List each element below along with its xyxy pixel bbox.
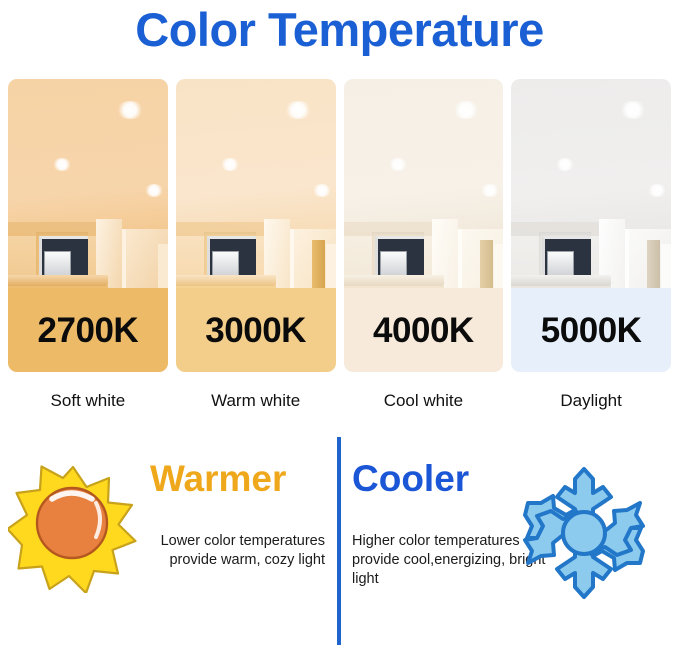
downlight-icon bbox=[452, 101, 480, 119]
kelvin-band-3000k: 3000K bbox=[176, 288, 336, 372]
kelvin-value: 3000K bbox=[205, 313, 306, 348]
downlight-icon bbox=[116, 101, 144, 119]
temperature-panels: 2700K 3000K bbox=[8, 79, 671, 372]
cooler-section: Cooler Higher color temperatures provide… bbox=[344, 437, 679, 645]
television-screen bbox=[380, 251, 407, 277]
downlight-icon bbox=[480, 184, 500, 197]
counter-top bbox=[511, 275, 611, 286]
ceiling bbox=[511, 79, 671, 235]
downlight-icon bbox=[312, 184, 332, 197]
caption-warm-white: Warm white bbox=[176, 389, 336, 413]
downlight-icon bbox=[388, 158, 408, 171]
television-screen bbox=[212, 251, 239, 277]
downlight-icon bbox=[144, 184, 164, 197]
caption-soft-white: Soft white bbox=[8, 389, 168, 413]
television-screen bbox=[547, 251, 574, 277]
kelvin-value: 5000K bbox=[541, 313, 642, 348]
counter-top bbox=[344, 275, 444, 286]
temperature-panel-3000k[interactable]: 3000K bbox=[176, 79, 336, 372]
kelvin-band-5000k: 5000K bbox=[511, 288, 671, 372]
warmer-heading: Warmer bbox=[150, 458, 325, 500]
kelvin-band-4000k: 4000K bbox=[344, 288, 504, 372]
television-screen bbox=[44, 251, 71, 277]
vertical-divider bbox=[337, 437, 341, 645]
kelvin-value: 4000K bbox=[373, 313, 474, 348]
caption-cool-white: Cool white bbox=[344, 389, 504, 413]
page-title: Color Temperature bbox=[0, 2, 679, 58]
caption-daylight: Daylight bbox=[511, 389, 671, 413]
ceiling bbox=[8, 79, 168, 235]
temperature-panel-4000k[interactable]: 4000K bbox=[344, 79, 504, 372]
counter-top bbox=[8, 275, 108, 286]
downlight-icon bbox=[220, 158, 240, 171]
downlight-icon bbox=[284, 101, 312, 119]
temperature-panel-2700k[interactable]: 2700K bbox=[8, 79, 168, 372]
ceiling bbox=[344, 79, 504, 235]
warmer-section: Warmer Lower color temperatures provide … bbox=[0, 437, 330, 645]
ceiling bbox=[176, 79, 336, 235]
downlight-icon bbox=[52, 158, 72, 171]
kelvin-value: 2700K bbox=[38, 313, 139, 348]
snowflake-icon bbox=[514, 463, 654, 603]
kelvin-band-2700k: 2700K bbox=[8, 288, 168, 372]
temperature-panel-5000k[interactable]: 5000K bbox=[511, 79, 671, 372]
sun-icon bbox=[8, 463, 138, 593]
counter-top bbox=[176, 275, 276, 286]
warmer-description: Lower color temperatures provide warm, c… bbox=[120, 532, 325, 570]
panel-captions: Soft white Warm white Cool white Dayligh… bbox=[8, 389, 671, 413]
